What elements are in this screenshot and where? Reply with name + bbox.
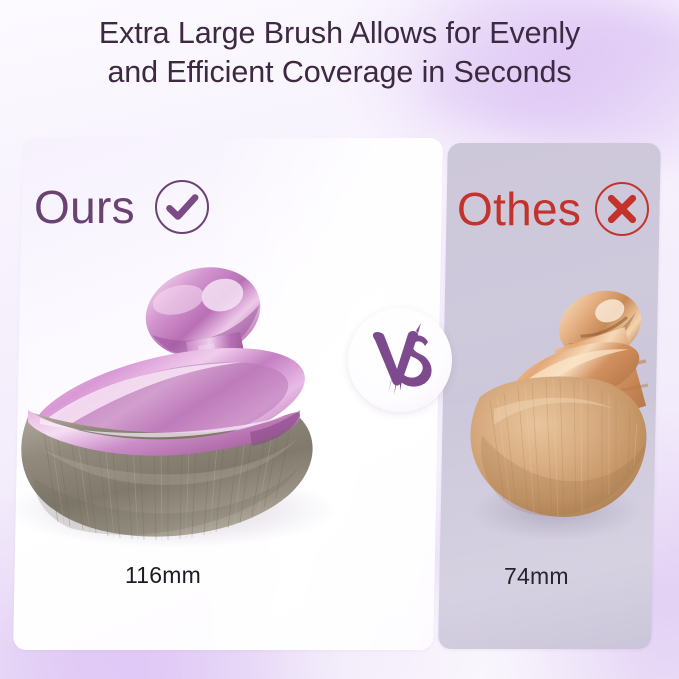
ours-label: Ours <box>34 184 135 230</box>
others-product-image <box>468 285 668 550</box>
brush-comparison-infographic: Extra Large Brush Allows for Evenly and … <box>0 0 679 679</box>
check-circle-icon <box>155 180 209 234</box>
ours-measurement: 116mm <box>125 564 201 587</box>
page-title-line-2: and Efficient Coverage in Seconds <box>0 53 679 92</box>
ours-product-image <box>0 260 370 550</box>
others-measurement: 74mm <box>504 565 569 588</box>
page-title: Extra Large Brush Allows for Evenly and … <box>0 14 679 92</box>
others-label: Othes <box>457 186 581 232</box>
page-title-line-1: Extra Large Brush Allows for Evenly <box>0 14 679 53</box>
ours-label-group: Ours <box>34 180 209 234</box>
vs-badge <box>348 308 452 412</box>
others-label-group: Othes <box>457 182 649 236</box>
x-circle-icon <box>595 182 649 236</box>
comparison-stage: Ours Othes <box>0 120 679 679</box>
